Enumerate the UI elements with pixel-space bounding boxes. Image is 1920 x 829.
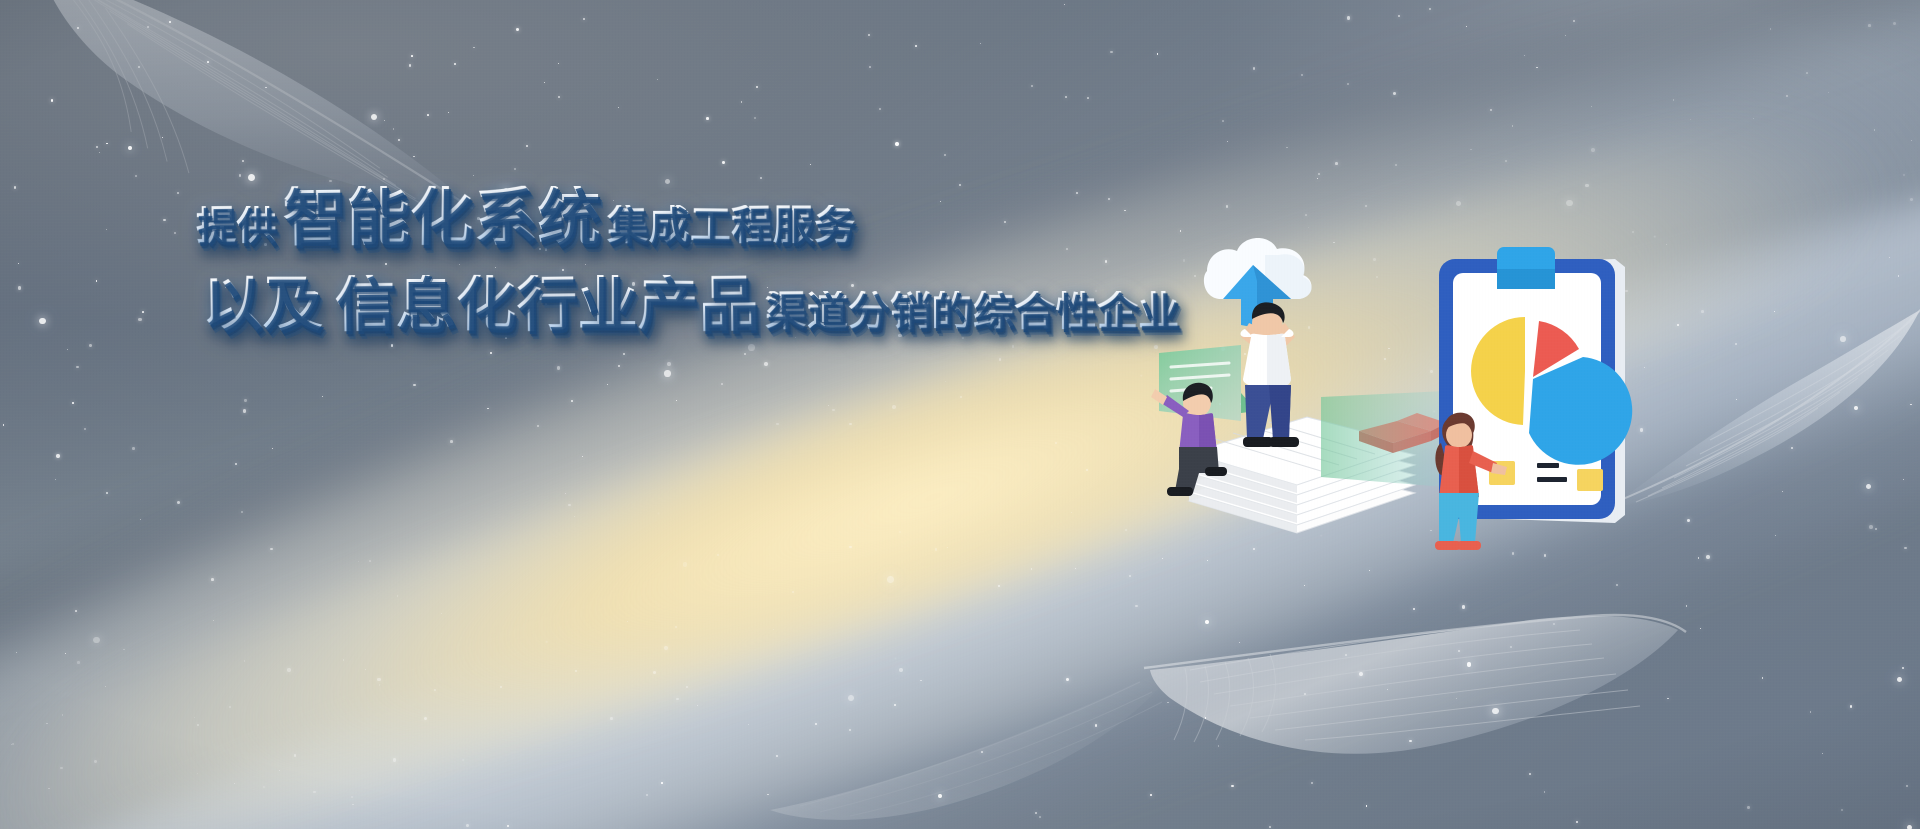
headline-char: 息 [396, 275, 457, 335]
headline-char: 信 [335, 275, 396, 336]
headline-char: 智 [282, 186, 346, 250]
headline-char: 工 [690, 205, 732, 247]
headline-char: 务 [814, 205, 856, 247]
teal-beam [1321, 391, 1445, 487]
headline-line2-seg1: 以及 [202, 275, 323, 335]
headline-char: 服 [773, 205, 814, 246]
headline-char: 性 [1055, 291, 1096, 332]
headline-char: 行 [517, 275, 578, 336]
headline-char: 业 [578, 275, 639, 335]
headline-block: 提供智能化系统集成工程服务 以及信息化行业产品渠道分销的综合性企业 [196, 186, 1096, 335]
headline-char: 合 [1014, 291, 1056, 333]
headline-char: 供 [236, 206, 276, 246]
headline-char: 产 [638, 275, 699, 336]
headline-char: 成 [648, 205, 689, 246]
headline-char: 化 [410, 186, 474, 250]
headline-char: 渠 [765, 291, 807, 333]
headline-line2-seg3: 渠道分销的综合性企业 [765, 291, 1179, 332]
headline-line1-seg3: 集成工程服务 [607, 205, 856, 246]
headline-line-1: 提供智能化系统集成工程服务 [196, 186, 1096, 249]
hero-banner: 提供智能化系统集成工程服务 以及信息化行业产品渠道分销的综合性企业 [0, 0, 1920, 829]
headline-char: 以 [202, 275, 263, 336]
headline-char: 销 [890, 291, 932, 333]
headline-char: 化 [456, 275, 517, 336]
headline-char: 程 [731, 205, 773, 247]
headline-char: 品 [699, 275, 760, 336]
headline-char: 的 [931, 291, 972, 332]
headline-char: 集 [607, 205, 649, 247]
headline-line1-seg2: 智能化系统 [283, 186, 601, 249]
headline-char: 及 [263, 275, 324, 335]
headline-line-2: 以及信息化行业产品渠道分销的综合性企业 [196, 275, 1096, 335]
headline-line2-seg2: 信息化行业产品 [335, 275, 759, 335]
headline-line1-seg1: 提供 [196, 206, 277, 246]
headline-char: 综 [972, 291, 1014, 333]
headline-char: 道 [807, 291, 848, 332]
headline-char: 统 [537, 186, 601, 249]
clipboard-clip [1497, 247, 1555, 289]
headline-char: 系 [473, 186, 537, 250]
headline-char: 分 [848, 291, 890, 333]
headline-char: 提 [196, 206, 237, 246]
headline-char: 能 [346, 186, 410, 249]
headline-char: 企 [1097, 291, 1139, 333]
business-analytics-illustration [1145, 225, 1675, 555]
